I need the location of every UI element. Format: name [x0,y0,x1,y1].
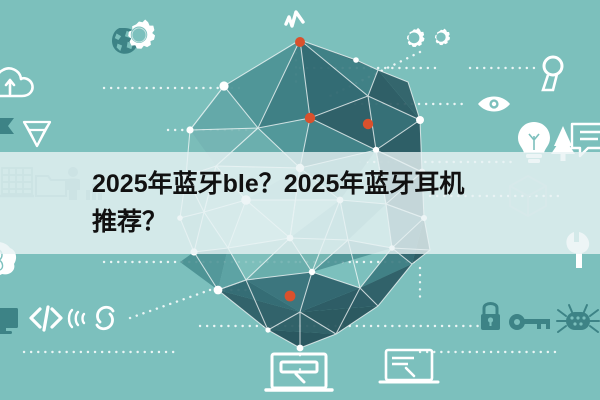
page-title-line-1: 2025年蓝牙ble？2025年蓝牙耳机 [92,165,580,203]
title-container: 2025年蓝牙ble？2025年蓝牙耳机 推荐？ [0,152,600,254]
banner-canvas: 2025年蓝牙ble？2025年蓝牙耳机 推荐？ [0,0,600,400]
page-title-line-2: 推荐？ [92,203,580,241]
